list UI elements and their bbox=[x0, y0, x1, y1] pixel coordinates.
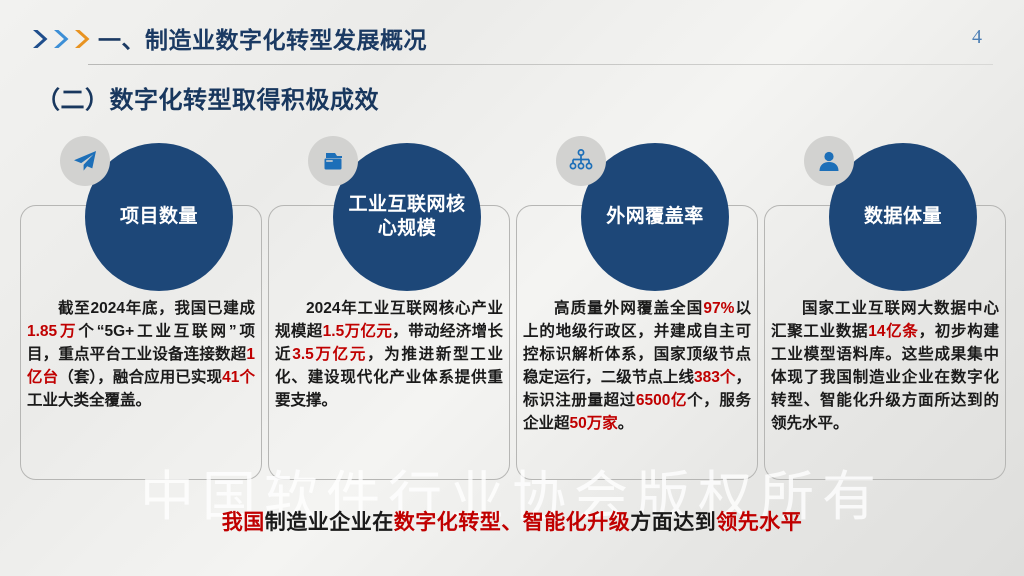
card-body-3: 国家工业互联网大数据中心汇聚工业数据14亿条，初步构建工业模型语料库。这些成果集… bbox=[771, 298, 999, 436]
slide-root: 一、制造业数字化转型发展概况 4 （二）数字化转型取得积极成效 项目数量 工业互… bbox=[0, 0, 1024, 576]
card-title-3: 数据体量 bbox=[854, 205, 952, 229]
card-group: 项目数量 工业互联网核 心规模 外网覆盖率 数据体量 bbox=[0, 0, 1024, 576]
sitemap-icon bbox=[568, 148, 594, 174]
paper-plane-icon bbox=[72, 148, 98, 174]
badge-3 bbox=[804, 136, 854, 186]
badge-0 bbox=[60, 136, 110, 186]
badge-2 bbox=[556, 136, 606, 186]
card-title-0: 项目数量 bbox=[110, 205, 208, 229]
card-title-2: 外网覆盖率 bbox=[596, 205, 714, 229]
card-body-2: 高质量外网覆盖全国97%以上的地级行政区，并建成自主可控标识解析体系，国家顶级节… bbox=[523, 298, 751, 436]
conclusion-text: 我国制造业企业在数字化转型、智能化升级方面达到领先水平 bbox=[0, 506, 1024, 536]
card-body-1: 2024年工业互联网核心产业规模超1.5万亿元，带动经济增长近3.5万亿元，为推… bbox=[275, 298, 503, 413]
card-title-1: 工业互联网核 心规模 bbox=[338, 193, 475, 241]
badge-1 bbox=[308, 136, 358, 186]
folder-icon bbox=[320, 148, 346, 174]
card-body-0: 截至2024年底，我国已建成1.85万个“5G+工业互联网”项目，重点平台工业设… bbox=[27, 298, 255, 413]
user-icon bbox=[816, 148, 842, 174]
